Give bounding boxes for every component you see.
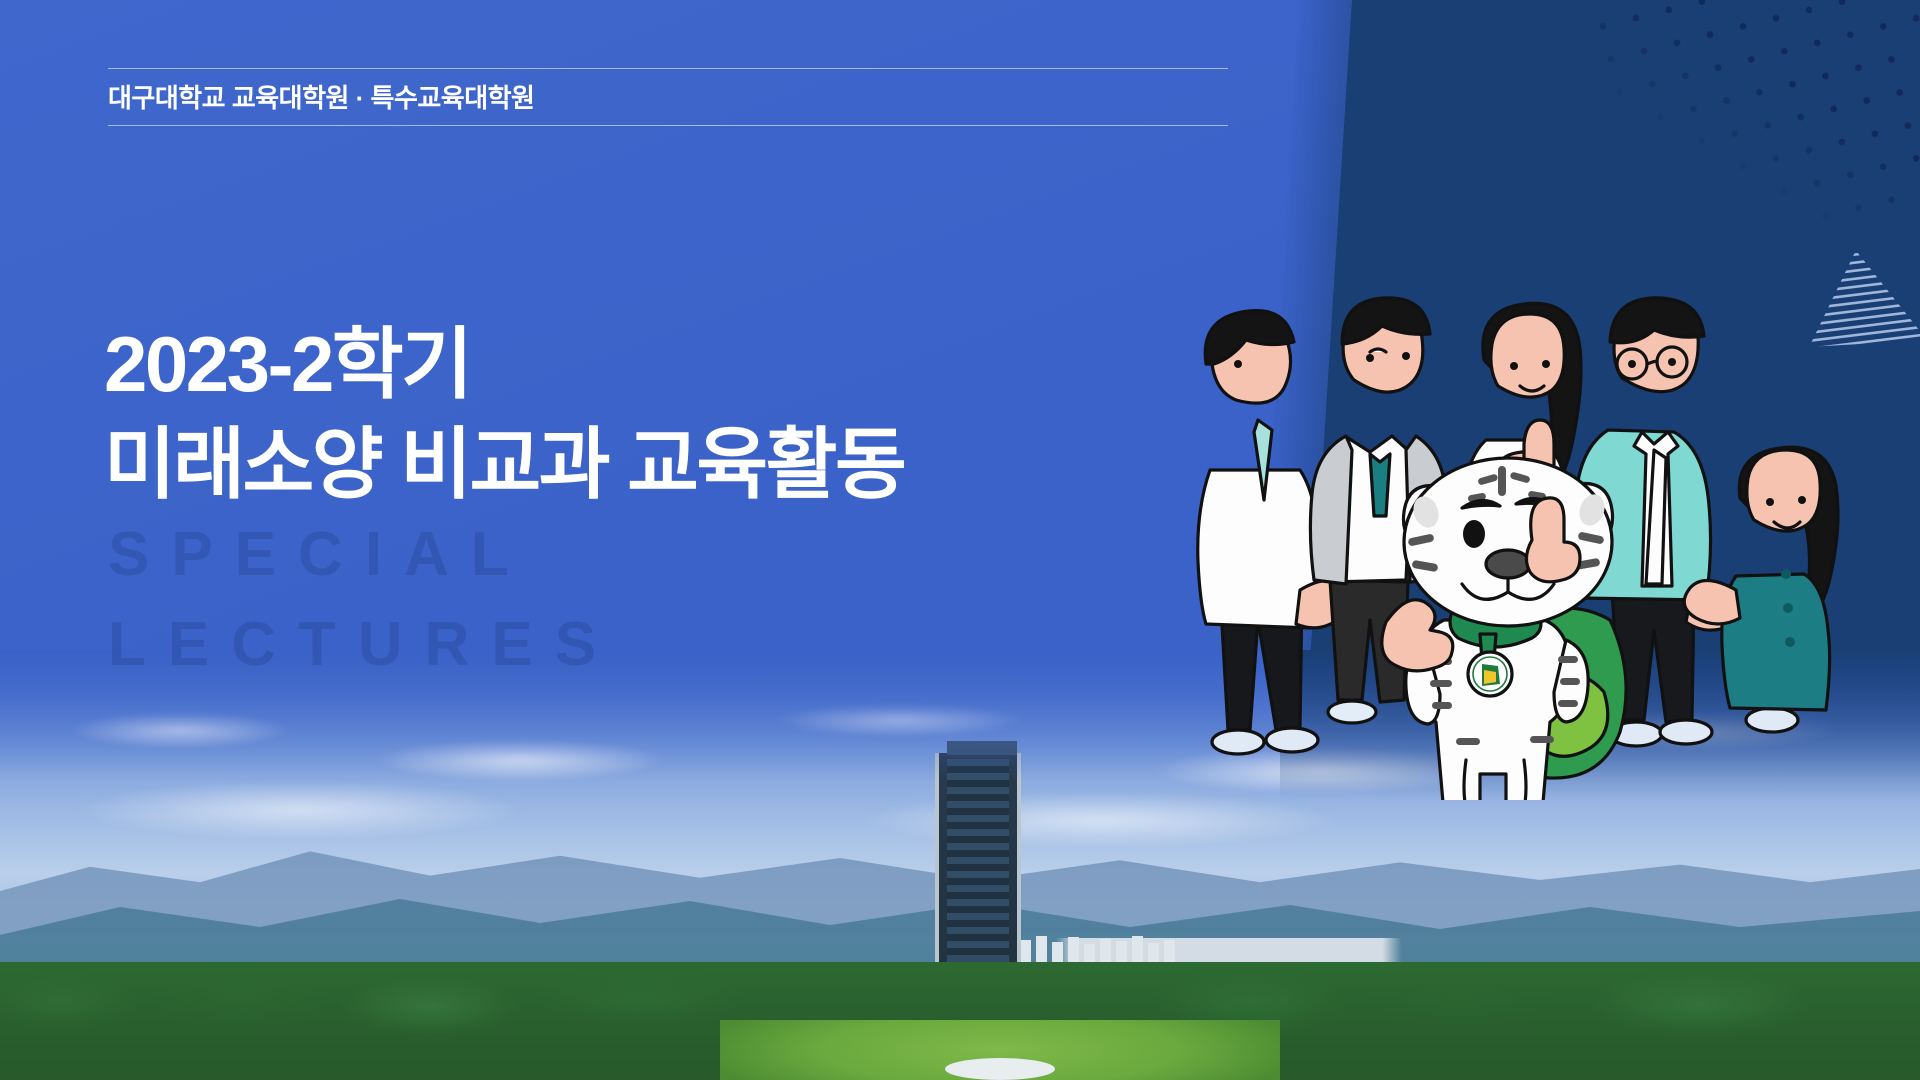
photo-lawn-plaza	[945, 1058, 1055, 1080]
title-line-1: 2023-2학기	[104, 320, 470, 408]
title-line-2: 미래소양 비교과 교육활동	[104, 415, 904, 515]
kicker-text: 대구대학교 교육대학원 · 특수교육대학원	[108, 69, 1228, 125]
kicker-block: 대구대학교 교육대학원 · 특수교육대학원	[108, 68, 1228, 126]
promo-banner: 대구대학교 교육대학원 · 특수교육대학원 2023-2학기 미래소양 비교과 …	[0, 0, 1920, 1080]
ghost-headline: SPECIAL LECTURES	[108, 510, 618, 690]
tiger-mascot	[1403, 458, 1626, 800]
kicker-rule-bottom	[108, 125, 1228, 126]
photo-tower-glass	[947, 759, 1009, 972]
ghost-line-1: SPECIAL	[108, 510, 618, 600]
photo-main-tower	[935, 753, 1021, 978]
students-illustration: .ol{stroke:#111;stroke-width:3.2;stroke-…	[1180, 290, 1880, 800]
ghost-line-2: LECTURES	[108, 600, 618, 690]
dot-pattern-mask	[1582, 0, 1920, 276]
